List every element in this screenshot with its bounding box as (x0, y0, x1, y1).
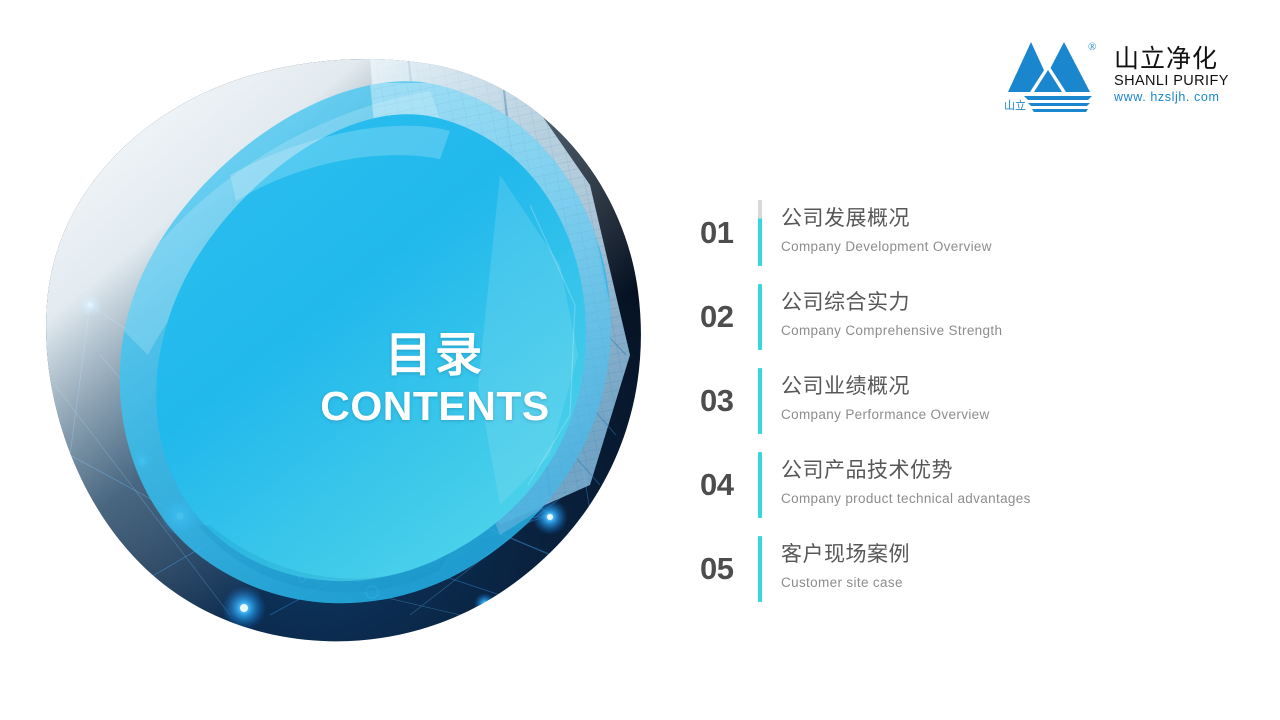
item-divider (758, 368, 762, 434)
item-divider (758, 200, 762, 266)
contents-item-04[interactable]: 04 公司产品技术优势 Company product technical ad… (700, 448, 1220, 532)
item-title-en: Company Comprehensive Strength (781, 321, 1220, 341)
contents-item-05[interactable]: 05 客户现场案例 Customer site case (700, 532, 1220, 616)
registered-trademark-icon: ® (1088, 41, 1096, 53)
item-divider (758, 284, 762, 350)
item-texts: 客户现场案例 Customer site case (781, 532, 1220, 593)
item-divider (758, 536, 762, 602)
item-texts: 公司产品技术优势 Company product technical advan… (781, 448, 1220, 509)
item-number: 02 (700, 280, 758, 335)
item-number: 01 (700, 196, 758, 251)
hero-graphic (30, 55, 655, 645)
svg-text:山立: 山立 (1004, 98, 1026, 112)
presentation-slide: 目录 CONTENTS 山立 ® 山立净化 SHANLI PURIFY www.… (0, 0, 1280, 720)
contents-item-01[interactable]: 01 公司发展概况 Company Development Overview (700, 196, 1220, 280)
item-texts: 公司业绩概况 Company Performance Overview (781, 364, 1220, 425)
item-number: 04 (700, 448, 758, 503)
item-title-cn: 公司产品技术优势 (781, 456, 1220, 485)
brand-name-en: SHANLI PURIFY (1114, 73, 1226, 90)
item-title-cn: 客户现场案例 (781, 540, 1220, 569)
item-title-cn: 公司综合实力 (781, 288, 1220, 317)
contents-item-02[interactable]: 02 公司综合实力 Company Comprehensive Strength (700, 280, 1220, 364)
item-title-cn: 公司业绩概况 (781, 372, 1220, 401)
brand-logo: 山立 ® 山立净化 SHANLI PURIFY www. hzsljh. com (1004, 36, 1218, 116)
item-title-en: Company Performance Overview (781, 405, 1220, 425)
item-title-cn: 公司发展概况 (781, 204, 1220, 233)
item-divider (758, 452, 762, 518)
item-texts: 公司综合实力 Company Comprehensive Strength (781, 280, 1220, 341)
brand-text-block: 山立净化 SHANLI PURIFY www. hzsljh. com (1114, 44, 1226, 105)
brand-name-cn: 山立净化 (1114, 44, 1226, 73)
item-title-en: Company Development Overview (781, 237, 1220, 257)
shanli-mountain-logo-icon: 山立 (1004, 36, 1096, 114)
item-number: 05 (700, 532, 758, 587)
item-texts: 公司发展概况 Company Development Overview (781, 196, 1220, 257)
contents-list: 01 公司发展概况 Company Development Overview 0… (700, 196, 1220, 616)
item-title-en: Customer site case (781, 573, 1220, 593)
item-title-en: Company product technical advantages (781, 489, 1220, 509)
item-number: 03 (700, 364, 758, 419)
brand-url: www. hzsljh. com (1114, 90, 1226, 105)
contents-item-03[interactable]: 03 公司业绩概况 Company Performance Overview (700, 364, 1220, 448)
